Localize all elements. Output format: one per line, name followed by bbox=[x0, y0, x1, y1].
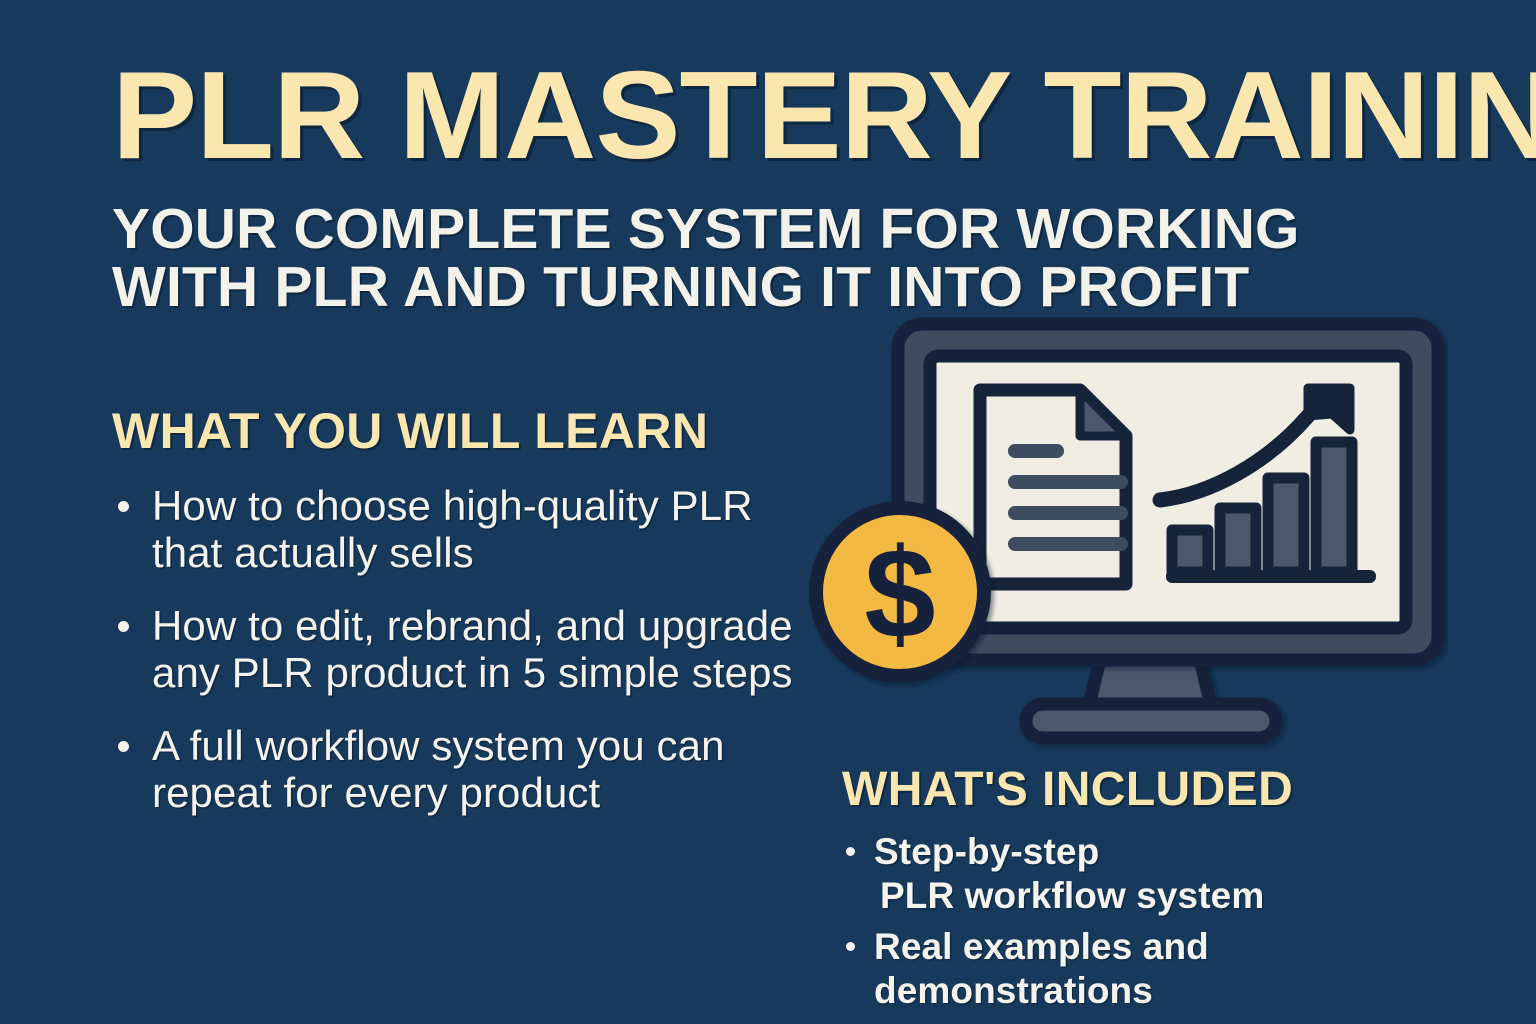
page-subtitle: YOUR COMPLETE SYSTEM FOR WORKING WITH PL… bbox=[112, 200, 1382, 316]
bullet-dot-icon bbox=[118, 741, 129, 752]
list-item: A full workflow system you can repeat fo… bbox=[112, 722, 812, 816]
chart-bar bbox=[1316, 442, 1352, 572]
chart-bar bbox=[1172, 530, 1208, 572]
coin-dollar-symbol: $ bbox=[864, 523, 935, 666]
list-item-label: How to choose high-quality PLR that actu… bbox=[152, 482, 812, 576]
section-heading-learn: WHAT YOU WILL LEARN bbox=[112, 406, 812, 456]
list-item: Downloadable work files bbox=[842, 1020, 1482, 1024]
list-item-label: A full workflow system you can repeat fo… bbox=[152, 722, 812, 816]
chart-bar bbox=[1268, 478, 1304, 572]
bullet-dot-icon bbox=[846, 847, 855, 856]
bullet-dot-icon bbox=[846, 942, 855, 951]
list-item: Step-by-step PLR workflow system bbox=[842, 830, 1482, 919]
headline-block: PLR MASTERY TRAINING YOUR COMPLETE SYSTE… bbox=[112, 56, 1442, 316]
infographic-poster: PLR MASTERY TRAINING YOUR COMPLETE SYSTE… bbox=[0, 0, 1536, 1024]
list-item-label: Real examples and demonstrations bbox=[874, 926, 1209, 1011]
list-item: How to choose high-quality PLR that actu… bbox=[112, 482, 812, 576]
bullet-dot-icon bbox=[118, 621, 129, 632]
list-item-label: Downloadable work files bbox=[874, 1021, 1308, 1024]
list-item-label: How to edit, rebrand, and upgrade any PL… bbox=[152, 602, 812, 696]
whats-included-section: WHAT'S INCLUDED Step-by-step PLR workflo… bbox=[842, 766, 1482, 1024]
bullet-dot-icon bbox=[118, 501, 129, 512]
what-you-will-learn-section: WHAT YOU WILL LEARN How to choose high-q… bbox=[112, 406, 812, 816]
included-bullet-list: Step-by-step PLR workflow system Real ex… bbox=[842, 830, 1482, 1024]
list-item-label: Step-by-step bbox=[874, 831, 1099, 872]
list-item: Real examples and demonstrations bbox=[842, 925, 1482, 1014]
learn-bullet-list: How to choose high-quality PLR that actu… bbox=[112, 482, 812, 816]
list-item: How to edit, rebrand, and upgrade any PL… bbox=[112, 602, 812, 696]
document-icon bbox=[980, 390, 1128, 584]
section-heading-included: WHAT'S INCLUDED bbox=[842, 766, 1482, 814]
list-item-label-line2: PLR workflow system bbox=[874, 874, 1482, 918]
illustration-monitor-chart-coin: $ bbox=[808, 312, 1448, 757]
chart-bar bbox=[1220, 508, 1256, 572]
dollar-coin-icon: $ bbox=[816, 508, 984, 676]
page-title: PLR MASTERY TRAINING bbox=[112, 56, 1482, 178]
